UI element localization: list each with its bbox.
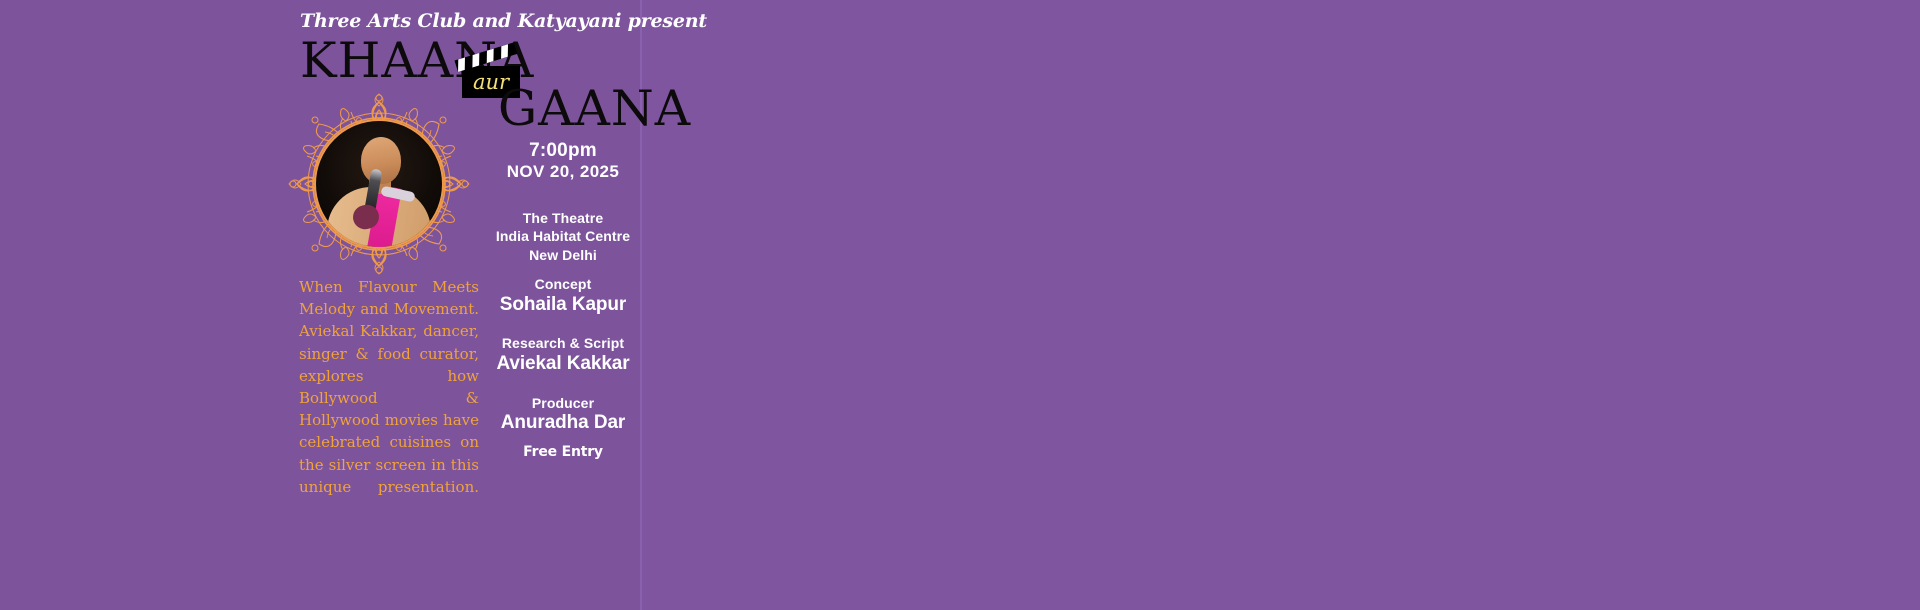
event-details: 7:00pm NOV 20, 2025 The Theatre India Ha… (478, 140, 648, 264)
poster-canvas: Three Arts Club and Katyayani present KH… (0, 0, 1920, 610)
performer-photo (314, 119, 444, 249)
credit-role: Research & Script (478, 335, 648, 353)
credit-name: Anuradha Dar (478, 412, 648, 435)
free-entry-label: Free Entry (478, 444, 648, 460)
credit-name: Sohaila Kapur (478, 294, 648, 317)
credit-name: Aviekal Kakkar (478, 353, 648, 376)
credit-role: Concept (478, 276, 648, 294)
event-venue: The Theatre India Habitat Centre New Del… (478, 209, 648, 264)
credit-item: Research & Script Aviekal Kakkar (478, 335, 648, 375)
performer-portrait (281, 86, 477, 282)
credit-role: Producer (478, 395, 648, 413)
background-right-fill (640, 0, 1920, 610)
title-gaana: GAANA (498, 84, 691, 133)
synopsis-text: When Flavour Meets Melody and Movement. … (299, 276, 479, 498)
presenter-line: Three Arts Club and Katyayani present (300, 10, 640, 32)
event-date: NOV 20, 2025 (478, 162, 648, 182)
credit-item: Producer Anuradha Dar (478, 395, 648, 435)
venue-line-3: New Delhi (478, 246, 648, 264)
venue-line-1: The Theatre (478, 209, 648, 227)
credit-item: Concept Sohaila Kapur (478, 276, 648, 316)
event-time: 7:00pm (478, 140, 648, 162)
credits-list: Concept Sohaila Kapur Research & Script … (478, 276, 648, 454)
venue-line-2: India Habitat Centre (478, 227, 648, 245)
